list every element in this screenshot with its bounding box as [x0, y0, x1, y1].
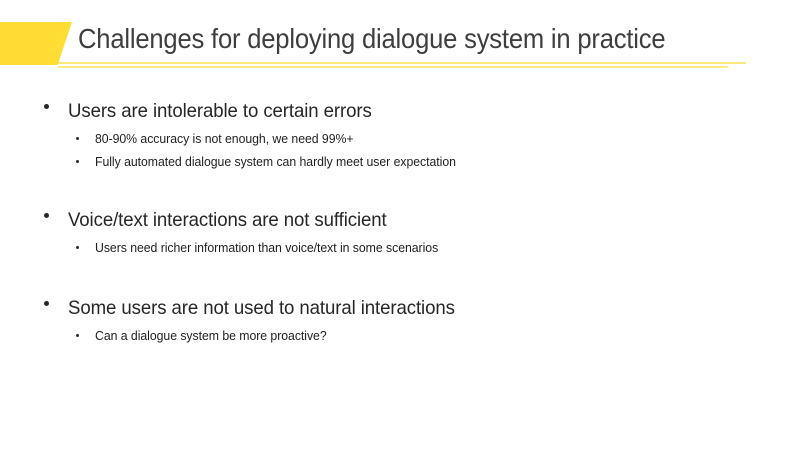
- bullet-dot-icon: [44, 213, 49, 218]
- bullet-level2: Fully automated dialogue system can hard…: [0, 152, 800, 173]
- sub-bullet-dot-icon: [76, 334, 79, 337]
- bullet-level2: Users need richer information than voice…: [0, 238, 800, 259]
- bullet-level1: Some users are not used to natural inter…: [0, 295, 800, 322]
- bullet-level2: 80-90% accuracy is not enough, we need 9…: [0, 129, 800, 150]
- bullet-level2-text: 80-90% accuracy is not enough, we need 9…: [95, 129, 772, 149]
- title-accent-parallelogram: [0, 22, 72, 65]
- title-underline-lower: [58, 66, 728, 68]
- slide-body: Users are intolerable to certain errors …: [0, 98, 800, 347]
- sub-bullet-list: Can a dialogue system be more proactive?: [0, 326, 800, 347]
- sub-bullet-dot-icon: [76, 246, 79, 249]
- bullet-group-1: Users are intolerable to certain errors …: [0, 98, 800, 173]
- bullet-group-3: Some users are not used to natural inter…: [0, 295, 800, 347]
- sub-bullet-list: Users need richer information than voice…: [0, 238, 800, 259]
- title-underline-upper: [58, 62, 746, 64]
- bullet-level2-text: Fully automated dialogue system can hard…: [95, 152, 772, 172]
- bullet-level2-text: Users need richer information than voice…: [95, 238, 772, 258]
- sub-bullet-list: 80-90% accuracy is not enough, we need 9…: [0, 129, 800, 173]
- bullet-level2: Can a dialogue system be more proactive?: [0, 326, 800, 347]
- bullet-level2-text: Can a dialogue system be more proactive?: [95, 326, 772, 346]
- bullet-level1-text: Voice/text interactions are not sufficie…: [68, 207, 767, 234]
- bullet-level1-text: Users are intolerable to certain errors: [68, 98, 767, 125]
- bullet-level1: Users are intolerable to certain errors: [0, 98, 800, 125]
- sub-bullet-dot-icon: [76, 160, 79, 163]
- sub-bullet-dot-icon: [76, 137, 79, 140]
- bullet-level1: Voice/text interactions are not sufficie…: [0, 207, 800, 234]
- bullet-dot-icon: [44, 104, 49, 109]
- slide-title-block: Challenges for deploying dialogue system…: [0, 0, 800, 80]
- bullet-group-2: Voice/text interactions are not sufficie…: [0, 207, 800, 259]
- bullet-dot-icon: [44, 301, 49, 306]
- bullet-level1-text: Some users are not used to natural inter…: [68, 295, 767, 322]
- presentation-slide: Challenges for deploying dialogue system…: [0, 0, 800, 449]
- page-title: Challenges for deploying dialogue system…: [78, 21, 729, 57]
